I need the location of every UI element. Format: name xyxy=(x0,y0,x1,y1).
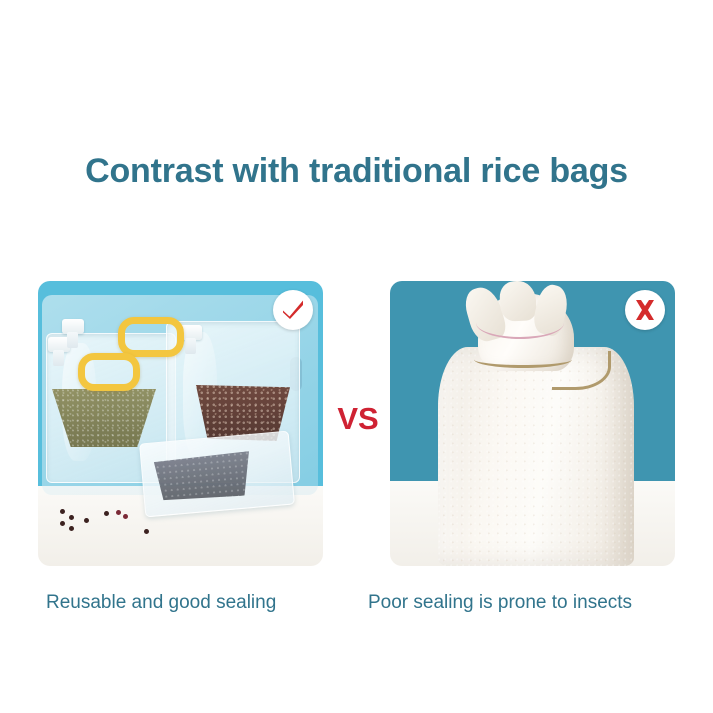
comparison-panel-reusable-bag xyxy=(38,281,323,566)
spilled-bean xyxy=(104,511,109,516)
cross-icon xyxy=(633,298,657,322)
yellow-carry-handle xyxy=(118,317,184,357)
caption-row: Reusable and good sealing Poor sealing i… xyxy=(38,592,675,622)
versus-label: VS xyxy=(326,401,390,437)
pink-string xyxy=(476,307,564,339)
spilled-bean xyxy=(123,514,128,519)
black-rice-grains xyxy=(150,451,257,504)
comparison-panel-traditional-bag xyxy=(390,281,675,566)
spilled-bean xyxy=(60,509,65,514)
comparison-section: VS xyxy=(38,281,675,566)
bag-spout-cap xyxy=(62,319,84,334)
status-badge-approved xyxy=(273,290,313,330)
spilled-bean xyxy=(60,521,65,526)
caption-traditional-bag: Poor sealing is prone to insects xyxy=(368,592,632,614)
spilled-bean xyxy=(116,510,121,515)
yellow-carry-handle xyxy=(78,353,140,391)
spilled-bean xyxy=(144,529,149,534)
caption-reusable-bag: Reusable and good sealing xyxy=(46,592,276,614)
reusable-bag-lying-flat xyxy=(139,431,295,518)
status-badge-rejected xyxy=(625,290,665,330)
spilled-bean xyxy=(69,526,74,531)
spilled-bean xyxy=(84,518,89,523)
page-title: Contrast with traditional rice bags xyxy=(0,152,713,191)
check-icon xyxy=(280,297,306,323)
spilled-bean xyxy=(69,515,74,520)
product-comparison-page: Contrast with traditional rice bags xyxy=(0,0,713,713)
